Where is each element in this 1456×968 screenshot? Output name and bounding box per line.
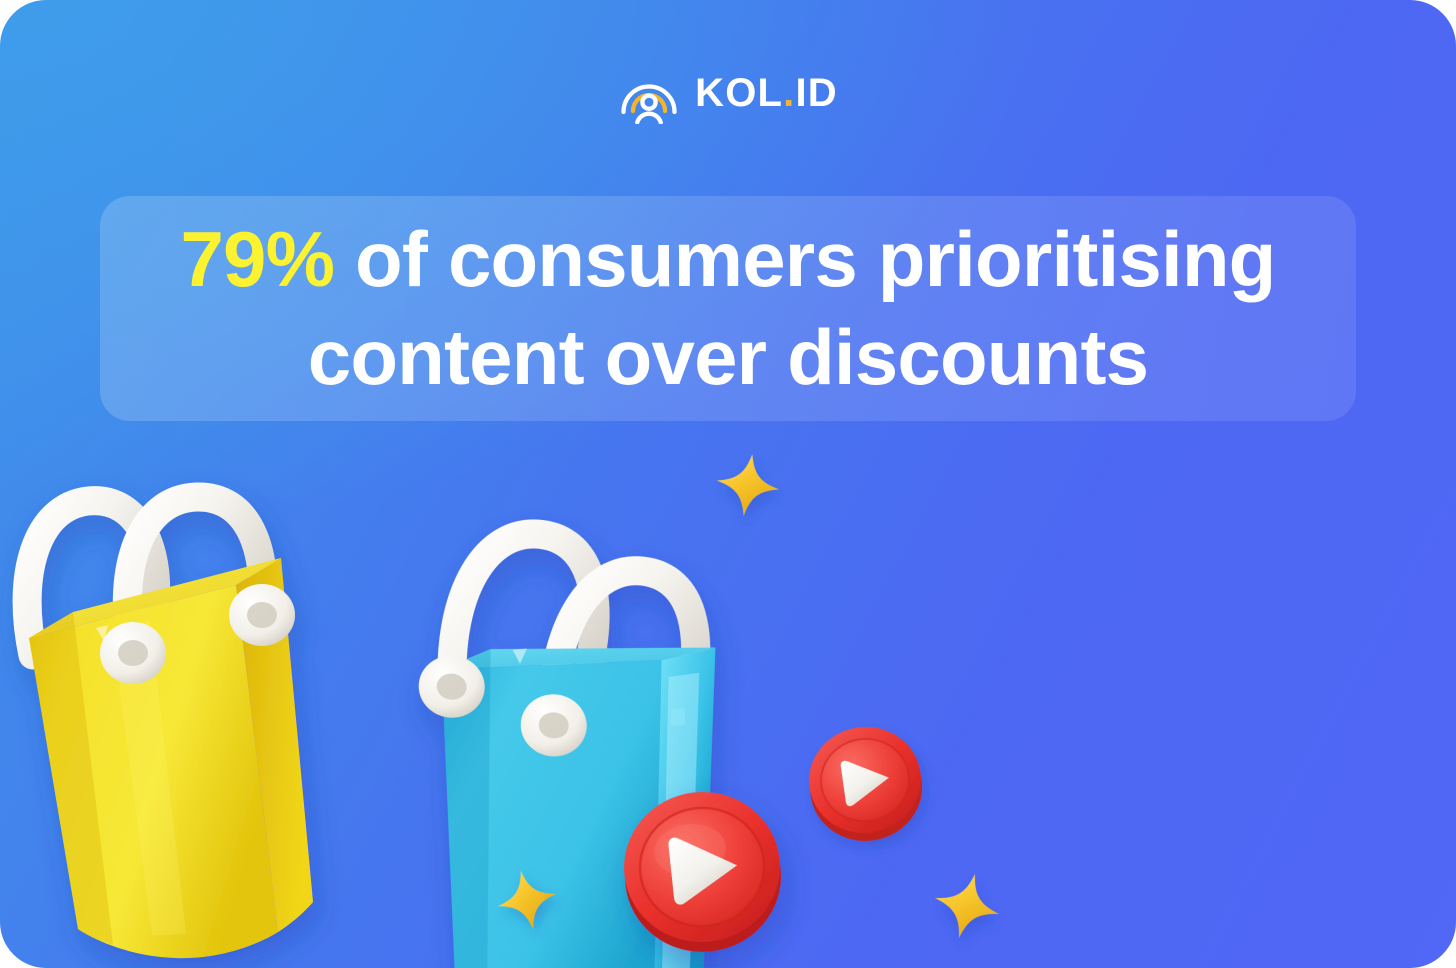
wordmark-suffix: ID (795, 71, 837, 115)
shopping-bags-illustration (0, 455, 1456, 968)
promo-card: KOL.ID 79% of consumers prioritising con… (0, 0, 1456, 968)
brand-wordmark: KOL.ID (695, 73, 838, 113)
wordmark-main: KOL (695, 71, 783, 115)
headline-stat: 79% (180, 215, 334, 303)
yellow-shopping-bag (27, 497, 313, 958)
headline-panel: 79% of consumers prioritising content ov… (100, 196, 1356, 421)
handle-eyelet (229, 584, 295, 646)
kol-person-signal-icon (618, 62, 680, 124)
headline-line-1-rest: of consumers prioritising (334, 215, 1275, 303)
headline-line-2: content over discounts (308, 309, 1149, 407)
handle-eyelet (100, 622, 166, 684)
red-play-button-small (802, 720, 929, 848)
headline-line-1: 79% of consumers prioritising (180, 211, 1275, 309)
yellow-sparkle-star (712, 455, 783, 521)
yellow-sparkle-star (927, 866, 1007, 946)
brand-logo: KOL.ID (0, 62, 1456, 124)
wordmark-dot: . (783, 71, 795, 115)
